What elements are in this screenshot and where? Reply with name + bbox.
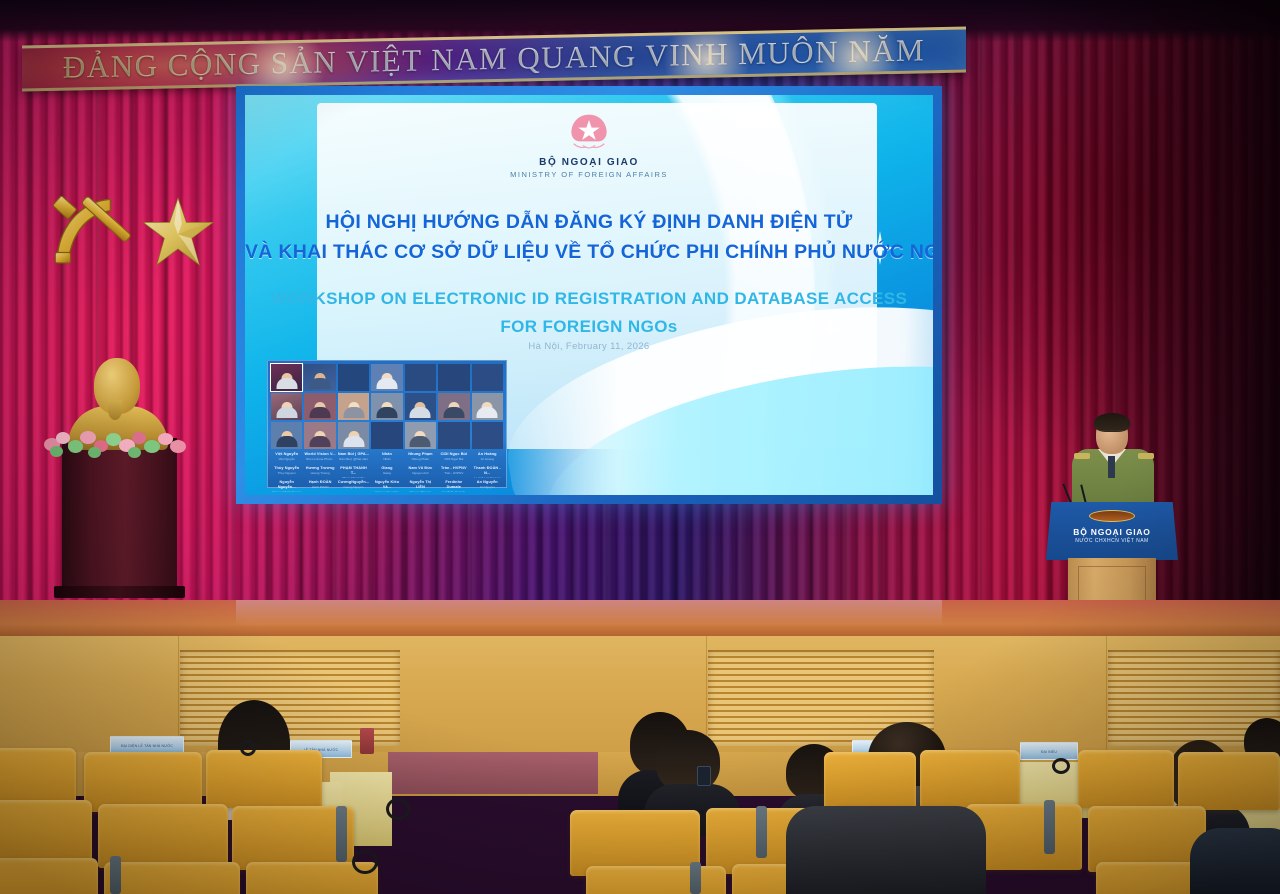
headset[interactable]: [1052, 758, 1070, 774]
auditorium-seat[interactable]: [0, 858, 98, 894]
video-tile: [371, 393, 402, 420]
participant-name: Thùy NguyễnThuy Nguyen: [271, 465, 302, 478]
auditorium-seat[interactable]: [1178, 752, 1280, 810]
speaker-epaulette-left: [1074, 453, 1090, 459]
wall-seam: [1106, 636, 1107, 756]
video-tile: [438, 422, 469, 449]
participant-name: Thanh ĐOÀN - N...Le Anh Lan Nguyen: [472, 465, 503, 478]
video-tile: [405, 393, 436, 420]
participant-name: Hương TrươngHuong Truong: [304, 465, 335, 478]
video-tile: [371, 422, 402, 449]
headset[interactable]: [386, 798, 410, 820]
auditorium-seat[interactable]: [206, 750, 322, 808]
mofa-name-vi: BỘ NGOẠI GIAO: [245, 157, 933, 168]
stage-floor-screen-reflection: [236, 600, 942, 626]
bust-beard: [108, 400, 122, 420]
video-tile-row: [271, 364, 503, 391]
headset[interactable]: [352, 850, 378, 874]
video-tile: [371, 364, 402, 391]
ho-chi-minh-bust: [46, 348, 192, 598]
participant-name-row: Nguyễn Nguyễn...Nguyen Manh Truong Hạnh …: [271, 479, 503, 492]
auditorium-seat[interactable]: [84, 752, 202, 812]
paper-cup: [360, 728, 374, 754]
video-tile: [304, 422, 335, 449]
mofa-emblem-icon: [566, 113, 612, 153]
participant-name: Ferdinhe DumaleFerdinhe Dumale: [438, 479, 469, 492]
video-tile: [271, 393, 302, 420]
hammer-and-sickle-icon: [42, 186, 137, 281]
smartphone: [697, 766, 711, 786]
seat-strap[interactable]: [690, 862, 701, 894]
slide-title-en-line2: FOR FOREIGN NGOs: [245, 313, 933, 341]
online-participants-grid: Việt NguyễnViệt Nguyễn World Vision V...…: [267, 360, 507, 488]
slide-date: Hà Nội, February 11, 2026: [245, 341, 933, 352]
video-tile: [271, 364, 302, 391]
video-tile: [472, 364, 503, 391]
audience-person-foreground: [786, 806, 986, 894]
desk-name-plate: ĐẠI BIỂU: [1020, 742, 1078, 760]
participant-name: NhânNhân: [371, 451, 402, 464]
seat-strap[interactable]: [756, 806, 767, 858]
participant-name: Nhung PhạmNhung Pham: [405, 451, 436, 464]
flower-arrangement: [42, 428, 194, 462]
video-tile: [438, 393, 469, 420]
gold-star-icon: [140, 195, 216, 271]
video-tile: [405, 364, 436, 391]
participant-name: Hạnh ĐOÀNHanh DOAN: [304, 479, 335, 492]
conference-hall-photo: ĐẢNG CỘNG SẢN VIỆT NAM QUANG VINH MUÔN N…: [0, 0, 1280, 894]
led-presentation-screen: BỘ NGOẠI GIAO MINISTRY OF FOREIGN AFFAIR…: [236, 86, 942, 504]
participant-name: PHẠM THANH T...Pham Thanh Tra: [338, 465, 369, 478]
video-tile: [472, 393, 503, 420]
mofa-name-en: MINISTRY OF FOREIGN AFFAIRS: [245, 170, 933, 179]
speaker-glasses-icon: [1100, 430, 1125, 435]
participant-name: An NguyễnAn Nguyen: [472, 479, 503, 492]
auditorium-seat[interactable]: [920, 750, 1020, 808]
participant-name: Nguyễn Thị LIÊNNguyen Thi Lien: [405, 479, 436, 492]
participant-name: CIDI Ngọc BùiCIDI Ngọc Bùi: [438, 451, 469, 464]
participant-name: Nguyễn Nguyễn...Nguyen Manh Truong: [271, 479, 302, 492]
video-tile: [338, 364, 369, 391]
video-tile: [304, 393, 335, 420]
participant-name: Trần - HVPNVTran - HVPNV: [438, 465, 469, 478]
auditorium-seat[interactable]: [104, 862, 240, 894]
participant-name: An HoàngAn Hoang: [472, 451, 503, 464]
slide-title-vi-line1: HỘI NGHỊ HƯỚNG DẪN ĐĂNG KÝ ĐỊNH DANH ĐIỆ…: [245, 207, 933, 237]
podium-subtitle: NƯỚC CHXHCN VIỆT NAM: [1046, 538, 1178, 544]
video-tile: [304, 364, 335, 391]
speaker-tie: [1108, 456, 1115, 478]
participant-name: World Vision V...Nhu Le Anne Phươ...: [304, 451, 335, 464]
auditorium-seat[interactable]: [824, 752, 916, 810]
auditorium-seat[interactable]: [1078, 750, 1174, 808]
podium-title: BỘ NGOẠI GIAO: [1046, 527, 1178, 537]
participant-name: Việt NguyễnViệt Nguyễn: [271, 451, 302, 464]
participant-name: Nam Bùi | GPA...Nam Bui | @Viet nam: [338, 451, 369, 464]
participant-name: Nam Vũ ĐứcNguyen Anh: [405, 465, 436, 478]
video-tile-row: [271, 393, 503, 420]
auditorium-seat[interactable]: [0, 800, 92, 866]
video-tile: [338, 422, 369, 449]
speaker-epaulette-right: [1138, 453, 1154, 459]
video-tile: [438, 364, 469, 391]
seat-strap[interactable]: [336, 806, 347, 862]
slide-title-vi: HỘI NGHỊ HƯỚNG DẪN ĐĂNG KÝ ĐỊNH DANH ĐIỆ…: [245, 207, 933, 267]
video-tile: [338, 393, 369, 420]
slide-title-en: WORKSHOP ON ELECTRONIC ID REGISTRATION A…: [245, 285, 933, 341]
seat-strap[interactable]: [1044, 800, 1055, 854]
slide-title-en-line1: WORKSHOP ON ELECTRONIC ID REGISTRATION A…: [245, 285, 933, 313]
audience-person-foreground: [1190, 828, 1280, 894]
participant-name-row: Thùy NguyễnThuy Nguyen Hương TrươngHuong…: [271, 465, 503, 478]
seat-strap[interactable]: [110, 856, 121, 894]
video-tile: [472, 422, 503, 449]
slide-title-vi-line2: VÀ KHAI THÁC CƠ SỞ DỮ LIỆU VỀ TỔ CHỨC PH…: [245, 237, 933, 267]
participant-name: CươngNguyễn...Cuong Nguyen: [338, 479, 369, 492]
podium-emblem-plate: [1089, 510, 1135, 522]
auditorium-seat[interactable]: [586, 866, 726, 894]
wall-pink-panel: [388, 752, 598, 794]
participant-name-row: Việt NguyễnViệt Nguyễn World Vision V...…: [271, 451, 503, 464]
participant-name: Nguyễn Kiều Vâ...Nguyen Kieu Van: [371, 479, 402, 492]
mofa-logo: BỘ NGOẠI GIAO MINISTRY OF FOREIGN AFFAIR…: [245, 113, 933, 179]
participant-name: GiangGiang: [371, 465, 402, 478]
video-tile: [271, 422, 302, 449]
headset[interactable]: [240, 740, 256, 756]
video-tile: [405, 422, 436, 449]
slide-canvas: BỘ NGOẠI GIAO MINISTRY OF FOREIGN AFFAIR…: [245, 95, 933, 495]
podium-front-panel: BỘ NGOẠI GIAO NƯỚC CHXHCN VIỆT NAM: [1046, 502, 1178, 560]
video-tile-row: [271, 422, 503, 449]
